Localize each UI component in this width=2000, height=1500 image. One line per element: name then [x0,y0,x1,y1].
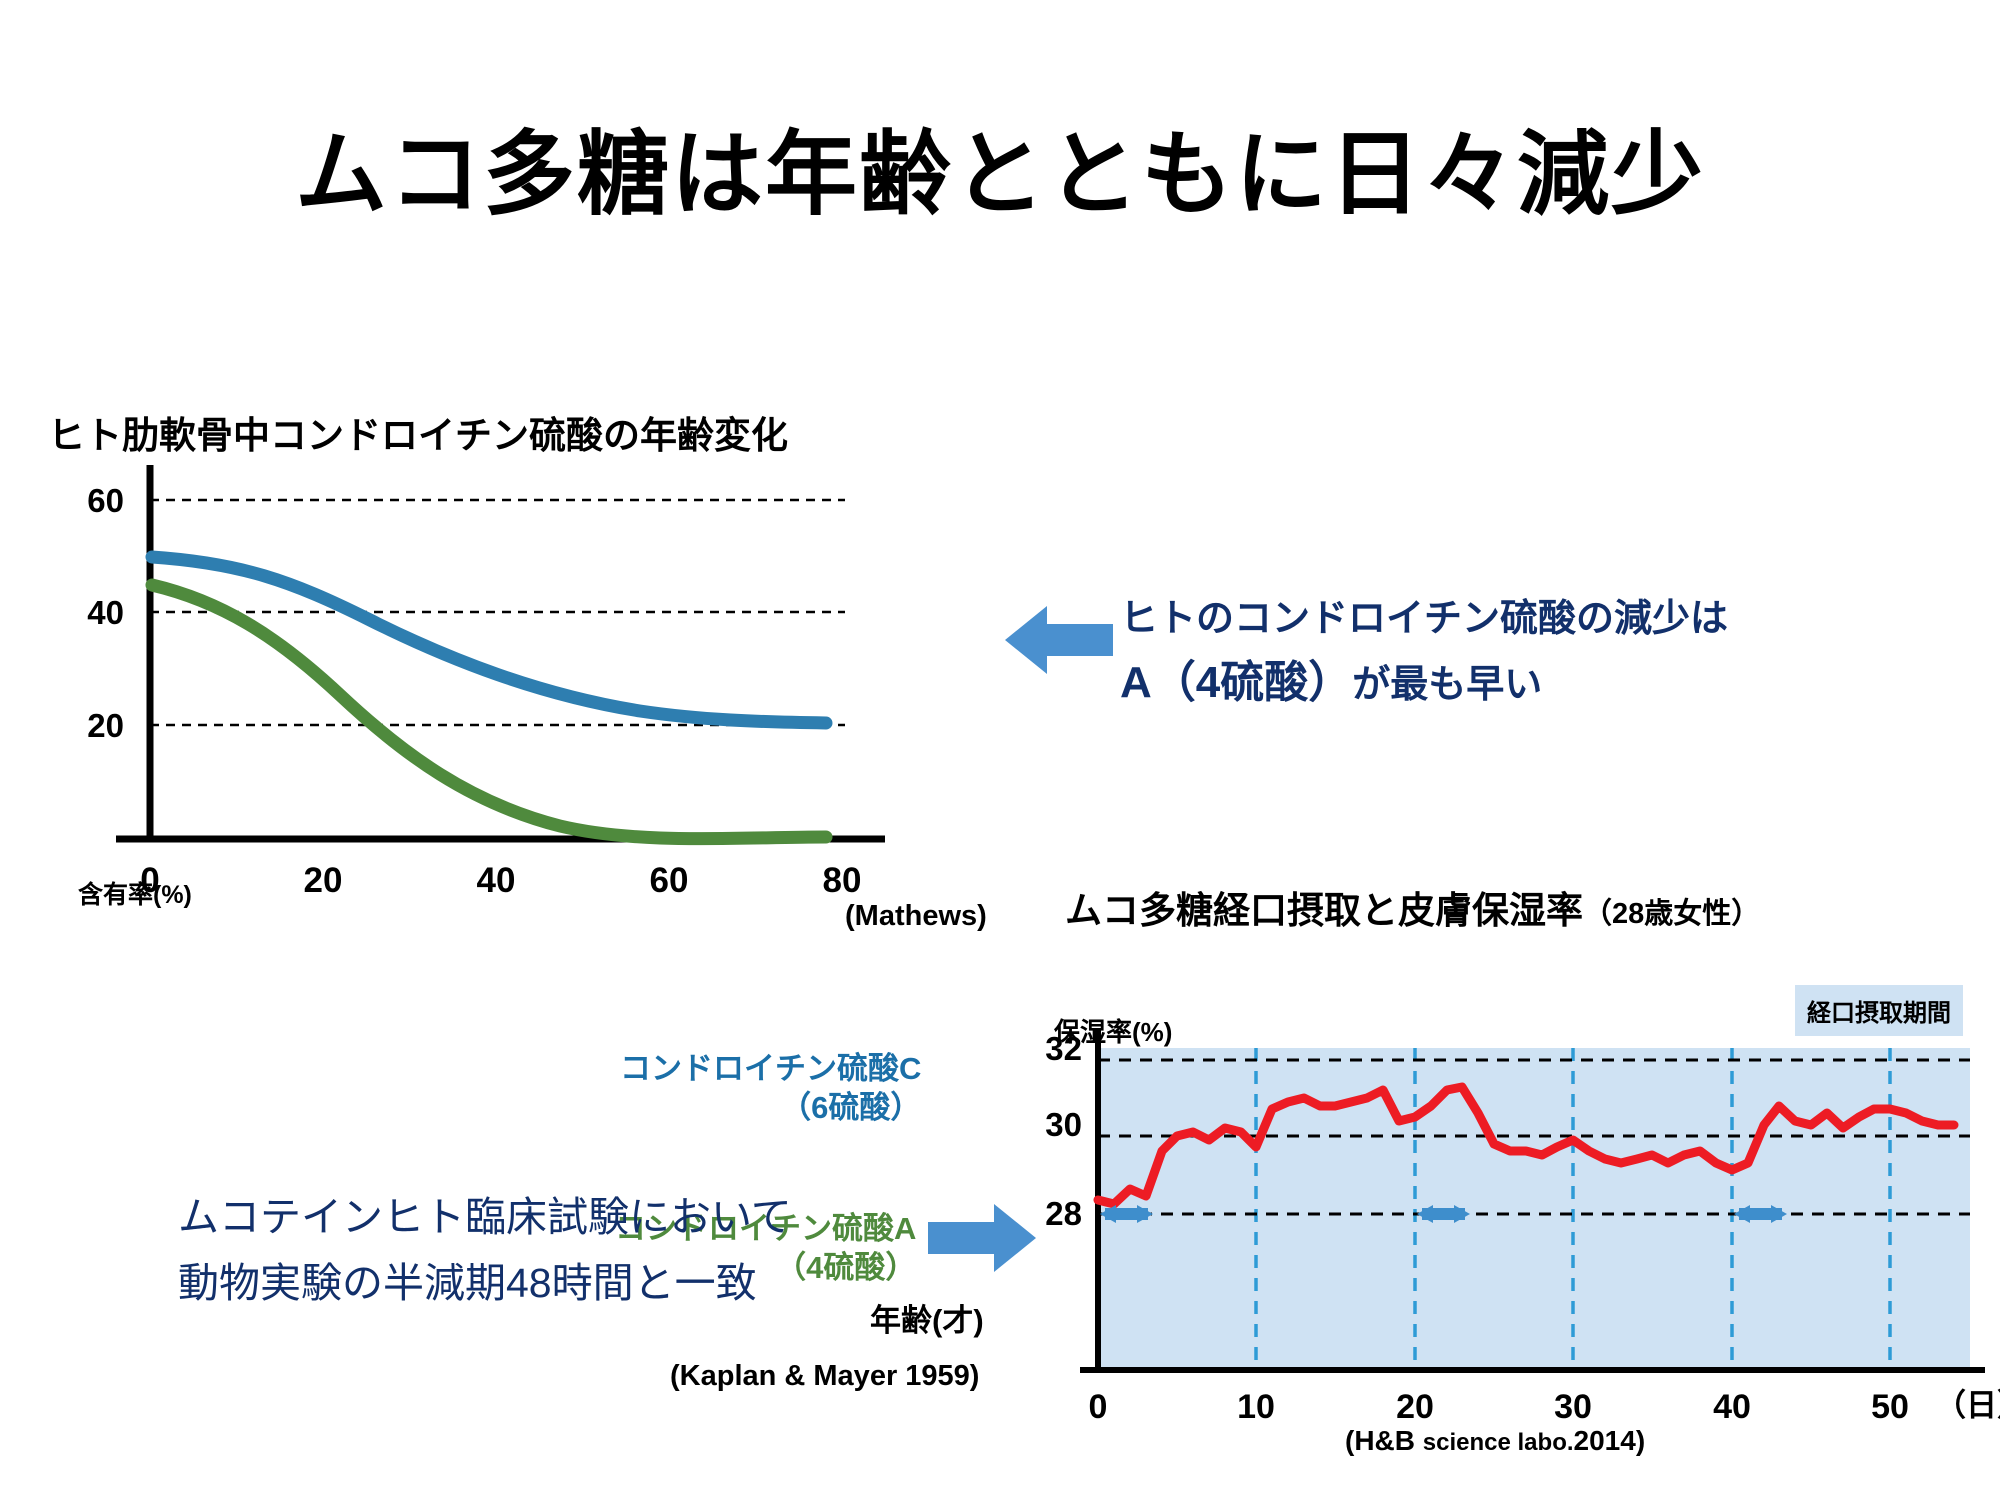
right-chart-ylabel: 保湿率(%) [1054,1012,1172,1049]
legend-c-line1: コンドロイチン硫酸C [620,1051,921,1086]
intake-period-badge: 経口摂取期間 [1795,985,1963,1036]
annotation-bottom-line2: 動物実験の半減期48時間と一致 [178,1251,792,1317]
right-xtick-30: 30 [1554,1388,1592,1426]
right-chart-title: ムコ多糖経口摂取と皮膚保湿率（28歳女性） [1065,880,1760,934]
left-chart-ylabel: 含有率(%) [78,875,192,911]
left-chart-xlabel: 年齢(才) [870,1295,984,1340]
left-chart-title: ヒト肋軟骨中コンドロイチン硫酸の年齢変化 [48,405,788,459]
source-main: (H&B [1345,1425,1415,1456]
annotation-bottom-line1: ムコテインヒト臨床試験において [178,1185,792,1251]
legend-c-line2: （6硫酸） [620,1089,921,1128]
right-xtick-40: 40 [1713,1388,1751,1426]
right-chart-source: (H&B science labo.2014) [1345,1425,1645,1457]
right-xtick-10: 10 [1237,1388,1275,1426]
xtick-60: 60 [650,861,689,900]
left-chart-panel: ヒト肋軟骨中コンドロイチン硫酸の年齢変化 含有率(%) (Mathews) 60… [40,405,1050,1025]
annotation-top-line1: ヒトのコンドロイチン硫酸の減少は [1120,590,1728,649]
intake-band [1098,1048,1970,1370]
right-xtick-20: 20 [1396,1388,1434,1426]
xtick-20: 20 [304,861,343,900]
left-chart-source: (Kaplan & Mayer 1959) [670,1360,979,1393]
ytick-20: 20 [87,707,124,744]
right-xtick-50: 50 [1871,1388,1909,1426]
right-ytick-28: 28 [1045,1195,1082,1232]
right-chart-panel: ムコ多糖経口摂取と皮膚保湿率（28歳女性） 保湿率(%) 経口摂取期間 32 3… [1030,880,2000,1480]
annotation-top-line2-bold: A（4硫酸） [1120,658,1352,707]
arrow-right-icon [928,1198,1036,1278]
annotation-top-line2: A（4硫酸）が最も早い [1120,649,1728,717]
right-chart-title-sub: （28歳女性） [1583,898,1760,930]
slide-root: ムコ多糖は年齢とともに日々減少 ヒト肋軟骨中コンドロイチン硫酸の年齢変化 含有率… [0,0,2000,1500]
right-chart-title-main: ムコ多糖経口摂取と皮膚保湿率 [1065,890,1583,931]
page-title: ムコ多糖は年齢とともに日々減少 [0,100,2000,233]
left-chart-attribution: (Mathews) [845,900,987,933]
series-chondroitin-c [152,557,826,723]
annotation-top-line2-rest: が最も早い [1352,664,1542,706]
annotation-bottom: ムコテインヒト臨床試験において 動物実験の半減期48時間と一致 [178,1185,792,1316]
right-chart-svg: 32 30 28 0 10 20 30 40 50 [1030,880,2000,1480]
xtick-40: 40 [477,861,516,900]
annotation-top: ヒトのコンドロイチン硫酸の減少は A（4硫酸）が最も早い [1120,590,1728,717]
arrow-left-icon [1005,600,1115,680]
xtick-80: 80 [823,861,862,900]
ytick-60: 60 [87,482,124,519]
right-xtick-0: 0 [1089,1388,1108,1426]
right-chart-xlabel: （日） [1935,1380,2000,1425]
ytick-40: 40 [87,594,124,631]
series-chondroitin-a [152,585,826,839]
right-ytick-30: 30 [1045,1106,1082,1143]
legend-chondroitin-c: コンドロイチン硫酸C （6硫酸） [620,1050,921,1128]
source-year: 2014) [1574,1425,1646,1456]
source-mid: science labo. [1423,1429,1574,1456]
